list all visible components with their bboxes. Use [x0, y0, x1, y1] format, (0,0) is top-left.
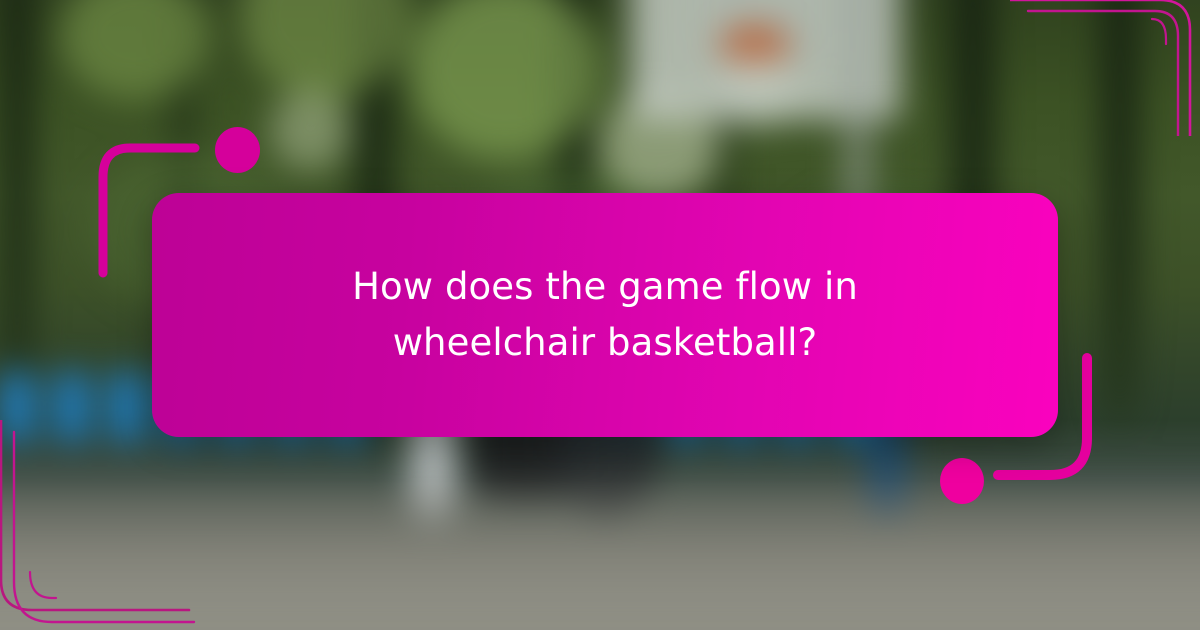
top-left-dot-ornament — [215, 127, 260, 173]
promo-card-canvas: How does the game flow in wheelchair bas… — [0, 0, 1200, 630]
tree-trunk — [0, 0, 34, 420]
tree-trunk — [1100, 0, 1140, 420]
foliage-highlight — [270, 90, 350, 170]
bench-slat — [110, 372, 144, 442]
bench-slat — [0, 372, 34, 442]
pavement — [0, 480, 1200, 630]
bench-slat — [55, 372, 89, 442]
net-blur — [715, 50, 795, 130]
bottom-right-dot-ornament — [940, 458, 984, 504]
question-text: How does the game flow in wheelchair bas… — [215, 259, 995, 371]
question-card: How does the game flow in wheelchair bas… — [152, 193, 1058, 437]
